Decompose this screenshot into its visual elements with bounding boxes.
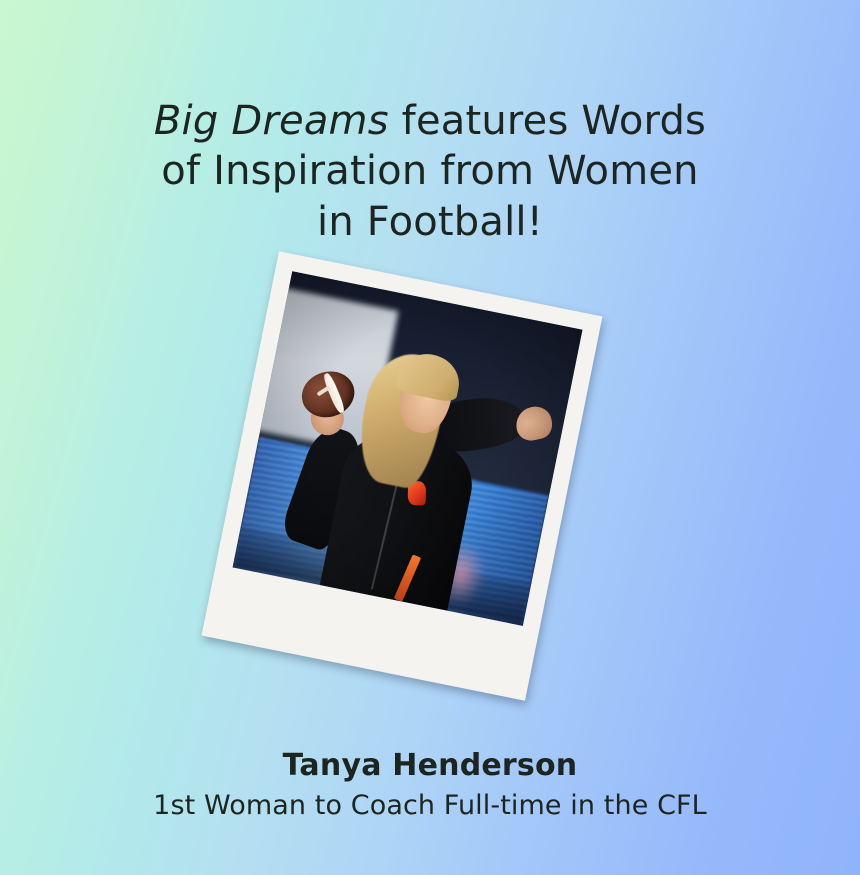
polaroid-frame: [202, 251, 603, 700]
photo-scene: [233, 271, 583, 626]
headline-italic-title: Big Dreams: [154, 98, 389, 144]
headline-line3: in Football!: [317, 199, 543, 245]
credit-role: 1st Woman to Coach Full-time in the CFL: [60, 790, 800, 822]
credit-name: Tanya Henderson: [60, 748, 800, 784]
polaroid-card: [202, 251, 603, 700]
headline-line2: of Inspiration from Women: [161, 148, 698, 194]
poster-canvas: Big Dreams features Words of Inspiration…: [0, 0, 860, 875]
photo-vignette: [233, 271, 583, 626]
headline-line1-rest: features Words: [389, 98, 706, 144]
photo-image: [233, 271, 583, 626]
page-title: Big Dreams features Words of Inspiration…: [60, 96, 800, 247]
